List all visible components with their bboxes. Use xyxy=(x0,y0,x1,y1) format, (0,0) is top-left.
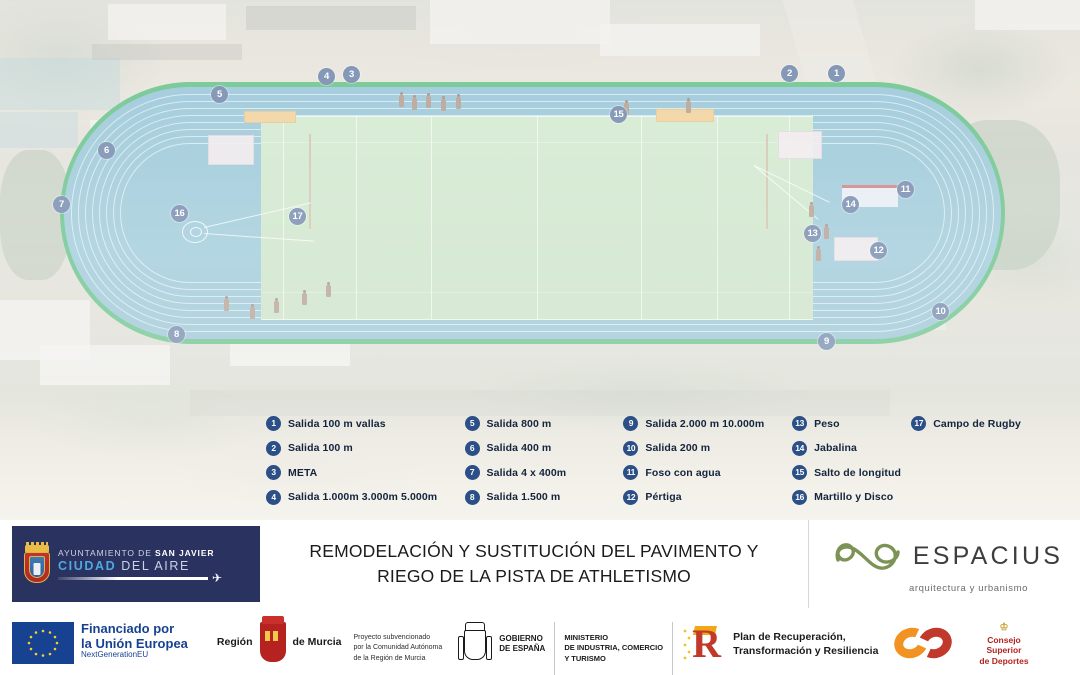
map-marker-16[interactable]: 16 xyxy=(171,205,188,222)
legend-column-2: 5Salida 800 m6Salida 400 m7Salida 4 x 40… xyxy=(465,416,624,505)
subvencion-line-3: de la Región de Murcia xyxy=(354,654,443,664)
map-marker-7[interactable]: 7 xyxy=(53,196,70,213)
ayuntamiento-line1: AYUNTAMIENTO DE SAN JAVIER xyxy=(58,548,214,558)
map-marker-4[interactable]: 4 xyxy=(318,68,335,85)
ministerio-line-3: Y TURISMO xyxy=(564,654,663,664)
prtr-line-1: Plan de Recuperación, xyxy=(733,630,878,644)
map-marker-6[interactable]: 6 xyxy=(98,142,115,159)
eu-flag-icon xyxy=(12,622,74,664)
runner-figure xyxy=(426,96,431,108)
legend-column-1: 1Salida 100 m vallas2Salida 100 m3META4S… xyxy=(266,416,465,505)
runner-figure xyxy=(686,101,691,113)
landing-mat-east xyxy=(834,237,878,261)
site-pool-2 xyxy=(0,112,78,148)
lane-line xyxy=(113,136,952,290)
subvencion-text: Proyecto subvencionado por la Comunidad … xyxy=(354,633,443,663)
long-jump-pit-west xyxy=(244,111,296,123)
subvencion-line-1: Proyecto subvencionado xyxy=(354,633,443,643)
water-jump-pit xyxy=(842,185,898,207)
lane-line xyxy=(71,94,994,332)
runner-figure xyxy=(456,97,461,109)
legend-badge-12: 12 xyxy=(623,490,638,505)
legend-item-16[interactable]: 16Martillo y Disco xyxy=(792,490,911,505)
track-green-border xyxy=(60,82,1005,344)
csd-logo: ♔ Consejo Superior de Deportes xyxy=(892,622,1028,666)
gobierno-line-2: DE ESPAÑA xyxy=(499,644,545,654)
prtr-mark-icon: R xyxy=(682,622,726,666)
runner-figure xyxy=(441,99,446,111)
ayuntamiento-san-javier-logo: AYUNTAMIENTO DE SAN JAVIER CIUDAD DEL AI… xyxy=(12,526,260,602)
site-building xyxy=(90,120,250,194)
legend-badge-8: 8 xyxy=(465,490,480,505)
prtr-logo: R Plan de Recuperación, Transformación y… xyxy=(682,622,878,666)
legend-item-2[interactable]: 2Salida 100 m xyxy=(266,441,465,456)
region-de-murcia-logo: Región de Murcia xyxy=(217,622,342,662)
lane-line xyxy=(85,108,980,318)
legend-label-12: Pértiga xyxy=(645,491,681,503)
map-marker-1[interactable]: 1 xyxy=(828,65,845,82)
map-marker-14[interactable]: 14 xyxy=(842,196,859,213)
espacius-logo: ESPACIUS arquitectura y urbanismo xyxy=(808,520,1080,608)
site-roof xyxy=(92,44,242,60)
legend-label-3: META xyxy=(288,467,317,479)
goal-post xyxy=(309,134,311,229)
legend-item-12[interactable]: 12Pértiga xyxy=(623,490,792,505)
legend-label-15: Salto de longitud xyxy=(814,467,901,479)
eu-line-2: la Unión Europea xyxy=(81,637,188,652)
gobierno-line-1: GOBIERNO xyxy=(499,634,545,644)
murcia-shield-icon xyxy=(260,622,286,662)
legend-column-5: 17Campo de Rugby xyxy=(911,416,1080,505)
legend-label-9: Salida 2.000 m 10.000m xyxy=(645,418,764,430)
legend-label-2: Salida 100 m xyxy=(288,442,353,454)
runner-figure xyxy=(224,299,229,311)
track-blue-surface xyxy=(64,87,1001,339)
prtr-line-2: Transformación y Resiliencia xyxy=(733,644,878,658)
site-building xyxy=(108,4,226,40)
map-marker-12[interactable]: 12 xyxy=(870,242,887,259)
eu-line-1: Financiado por xyxy=(81,622,188,637)
map-marker-5[interactable]: 5 xyxy=(211,86,228,103)
map-marker-2[interactable]: 2 xyxy=(781,65,798,82)
title-band: AYUNTAMIENTO DE SAN JAVIER CIUDAD DEL AI… xyxy=(0,520,1080,608)
legend-item-9[interactable]: 9Salida 2.000 m 10.000m xyxy=(623,416,792,431)
airplane-icon: ✈ xyxy=(212,572,222,584)
decorative-rule: ✈ xyxy=(58,577,208,580)
map-marker-17[interactable]: 17 xyxy=(289,208,306,225)
runner-figure xyxy=(302,293,307,305)
legend-badge-14: 14 xyxy=(792,441,807,456)
site-pool xyxy=(0,58,120,110)
legend-label-4: Salida 1.000m 3.000m 5.000m xyxy=(288,491,437,503)
legend-label-1: Salida 100 m vallas xyxy=(288,418,386,430)
map-marker-11[interactable]: 11 xyxy=(897,181,914,198)
funding-footer: Financiado por la Unión Europea NextGene… xyxy=(0,608,1080,675)
ministerio-text: MINISTERIO DE INDUSTRIA, COMERCIO Y TURI… xyxy=(564,633,663,663)
runner-figure xyxy=(274,301,279,313)
high-jump-mat-west xyxy=(208,135,254,165)
site-road xyxy=(783,0,948,330)
legend-label-17: Campo de Rugby xyxy=(933,418,1021,430)
legend-column-3: 9Salida 2.000 m 10.000m10Salida 200 m11F… xyxy=(623,416,792,505)
subvencion-line-2: por la Comunidad Autónoma xyxy=(354,643,443,653)
csd-line-3: de Deportes xyxy=(979,656,1028,667)
runner-figure xyxy=(624,103,629,115)
legend-item-11[interactable]: 11Foso con agua xyxy=(623,465,792,480)
site-roof xyxy=(246,6,416,30)
legend-item-13[interactable]: 13Peso xyxy=(792,416,911,431)
legend-badge-2: 2 xyxy=(266,441,281,456)
legend-item-5[interactable]: 5Salida 800 m xyxy=(465,416,624,431)
lane-line xyxy=(78,101,987,325)
throwing-circle-inner xyxy=(190,227,202,237)
murcia-post: de Murcia xyxy=(293,636,342,648)
poster-page: 1234567891011121314151617 1Salida 100 m … xyxy=(0,0,1080,675)
legend-badge-16: 16 xyxy=(792,490,807,505)
lane-line xyxy=(99,122,966,304)
eu-funding-logo: Financiado por la Unión Europea NextGene… xyxy=(12,622,188,664)
legend-label-5: Salida 800 m xyxy=(487,418,552,430)
legend-label-8: Salida 1.500 m xyxy=(487,491,561,503)
legend-label-14: Jabalina xyxy=(814,442,857,454)
map-marker-13[interactable]: 13 xyxy=(804,225,821,242)
site-trees xyxy=(0,150,70,280)
site-building xyxy=(975,0,1080,30)
ministerio-line-2: DE INDUSTRIA, COMERCIO xyxy=(564,643,663,653)
legend-item-7[interactable]: 7Salida 4 x 400m xyxy=(465,465,624,480)
legend-item-3[interactable]: 3META xyxy=(266,465,465,480)
title-line-2: RIEGO DE LA PISTA DE ATHLETISMO xyxy=(377,564,691,589)
lane-line xyxy=(120,143,945,283)
legend-panel: 1Salida 100 m vallas2Salida 100 m3META4S… xyxy=(0,408,1080,520)
gobierno-de-espana-logo: GOBIERNO DE ESPAÑA xyxy=(458,622,545,666)
runner-figure xyxy=(399,95,404,107)
coat-of-arms-icon xyxy=(22,544,52,584)
map-marker-8[interactable]: 8 xyxy=(168,326,185,343)
legend-badge-3: 3 xyxy=(266,465,281,480)
divider-2 xyxy=(672,622,673,675)
athlete-figure xyxy=(816,249,821,261)
runner-figure xyxy=(412,98,417,110)
csd-mark-icon xyxy=(892,622,972,664)
csd-crown-icon: ♔ xyxy=(979,622,1028,635)
rugby-pitch-infield xyxy=(261,116,813,320)
site-building xyxy=(0,300,90,360)
legend-badge-7: 7 xyxy=(465,465,480,480)
legend-label-6: Salida 400 m xyxy=(487,442,552,454)
ministerio-line-1: MINISTERIO xyxy=(564,633,663,643)
legend-badge-17: 17 xyxy=(911,416,926,431)
map-marker-15[interactable]: 15 xyxy=(610,106,627,123)
throwing-circle xyxy=(182,221,208,243)
lane-line xyxy=(106,129,959,297)
spain-emblem-icon xyxy=(458,622,492,666)
murcia-pre: Región xyxy=(217,636,253,648)
site-building xyxy=(230,330,350,366)
page-title: REMODELACIÓN Y SUSTITUCIÓN DEL PAVIMENTO… xyxy=(260,520,808,608)
map-marker-10[interactable]: 10 xyxy=(932,303,949,320)
map-marker-3[interactable]: 3 xyxy=(343,66,360,83)
legend-badge-9: 9 xyxy=(623,416,638,431)
map-marker-9[interactable]: 9 xyxy=(818,333,835,350)
athlete-figure xyxy=(809,205,814,217)
ayuntamiento-line2: CIUDAD DEL AIRE xyxy=(58,559,214,573)
legend-badge-5: 5 xyxy=(465,416,480,431)
site-building xyxy=(40,345,170,385)
runner-figure xyxy=(250,307,255,319)
espacius-tagline: arquitectura y urbanismo xyxy=(909,583,1028,594)
pole-vault-mat xyxy=(778,131,822,159)
legend-badge-15: 15 xyxy=(792,465,807,480)
legend-columns: 1Salida 100 m vallas2Salida 100 m3META4S… xyxy=(0,416,1080,505)
legend-item-14[interactable]: 14Jabalina xyxy=(792,441,911,456)
legend-badge-1: 1 xyxy=(266,416,281,431)
legend-badge-13: 13 xyxy=(792,416,807,431)
csd-line-2: Superior xyxy=(979,645,1028,656)
legend-item-4[interactable]: 4Salida 1.000m 3.000m 5.000m xyxy=(266,490,465,505)
legend-item-8[interactable]: 8Salida 1.500 m xyxy=(465,490,624,505)
legend-label-13: Peso xyxy=(814,418,840,430)
legend-badge-4: 4 xyxy=(266,490,281,505)
runner-figure xyxy=(326,285,331,297)
legend-label-10: Salida 200 m xyxy=(645,442,710,454)
legend-badge-6: 6 xyxy=(465,441,480,456)
site-building xyxy=(600,24,760,56)
athletics-track xyxy=(60,82,1005,344)
csd-line-1: Consejo xyxy=(979,635,1028,646)
legend-label-16: Martillo y Disco xyxy=(814,491,893,503)
legend-item-10[interactable]: 10Salida 200 m xyxy=(623,441,792,456)
long-jump-pit-east xyxy=(656,109,714,122)
site-building xyxy=(430,0,610,44)
eu-line-3: NextGenerationEU xyxy=(81,651,188,660)
legend-label-11: Foso con agua xyxy=(645,467,720,479)
legend-item-6[interactable]: 6Salida 400 m xyxy=(465,441,624,456)
legend-badge-11: 11 xyxy=(623,465,638,480)
lane-line xyxy=(92,115,973,311)
legend-badge-10: 10 xyxy=(623,441,638,456)
site-trees xyxy=(940,120,1060,270)
espacius-name: ESPACIUS xyxy=(913,542,1063,571)
legend-item-17[interactable]: 17Campo de Rugby xyxy=(911,416,1080,431)
espacius-mark-icon xyxy=(832,534,906,578)
divider-1 xyxy=(554,622,555,675)
legend-label-7: Salida 4 x 400m xyxy=(487,467,567,479)
goal-post xyxy=(766,134,768,229)
title-line-1: REMODELACIÓN Y SUSTITUCIÓN DEL PAVIMENTO… xyxy=(309,539,758,564)
athlete-figure xyxy=(824,227,829,239)
legend-item-1[interactable]: 1Salida 100 m vallas xyxy=(266,416,465,431)
legend-column-4: 13Peso14Jabalina15Salto de longitud16Mar… xyxy=(792,416,911,505)
legend-item-15[interactable]: 15Salto de longitud xyxy=(792,465,911,480)
